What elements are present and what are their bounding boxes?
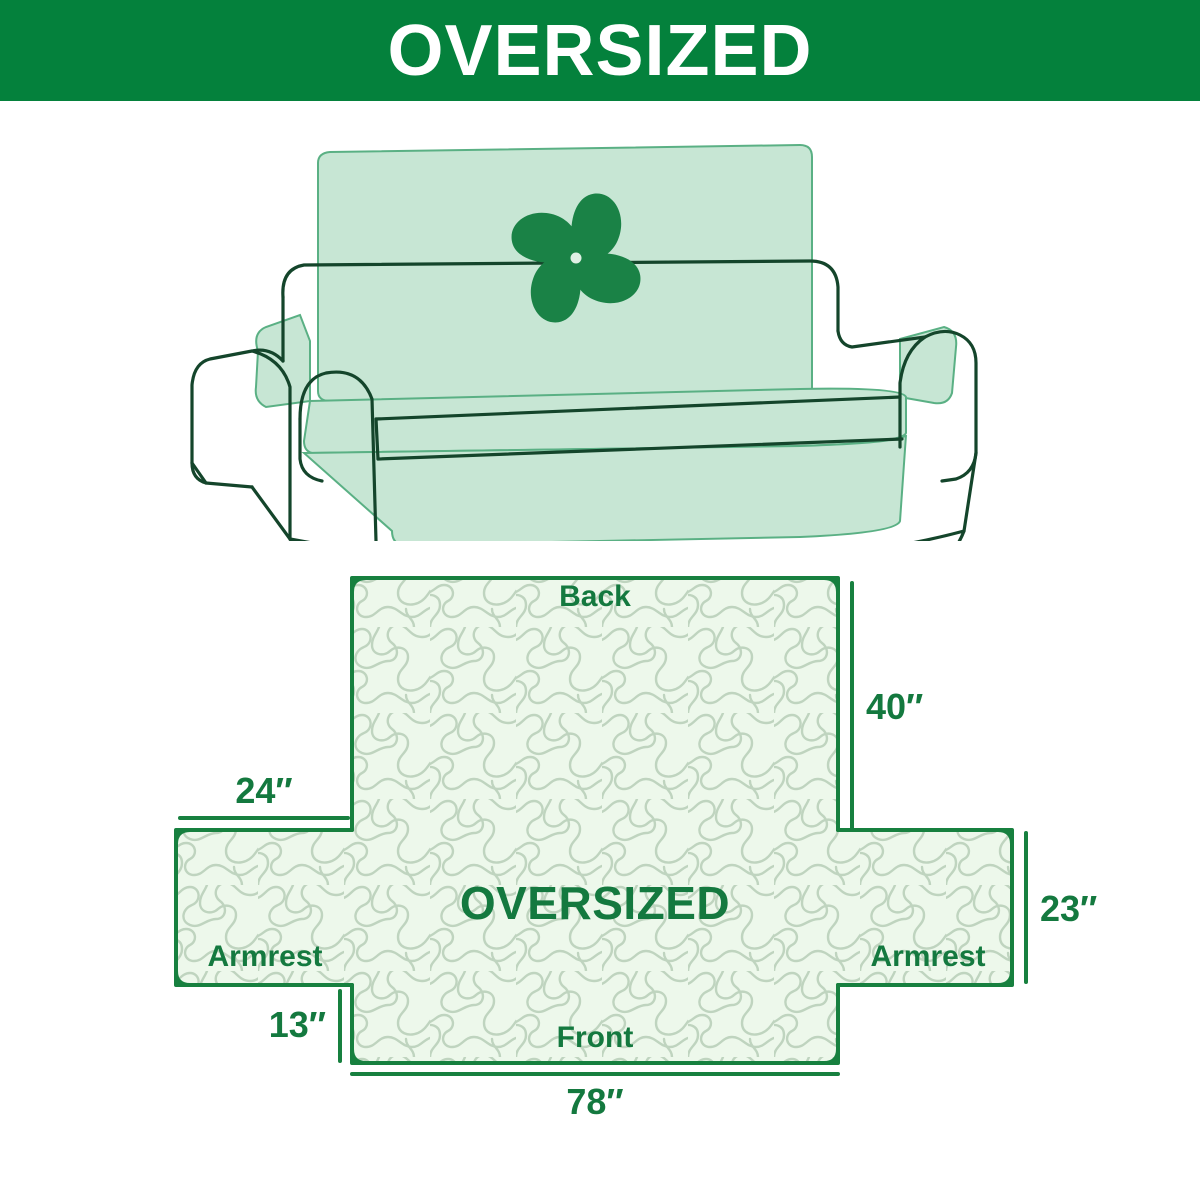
dimension-value-24: 24″ bbox=[235, 770, 292, 811]
flat-layout-svg: Back OVERSIZED Armrest Armrest Front 40″… bbox=[0, 541, 1200, 1200]
dimension-seat-width: 78″ bbox=[352, 1074, 838, 1122]
dimension-value-13: 13″ bbox=[269, 1004, 326, 1045]
dimension-value-40: 40″ bbox=[866, 686, 923, 727]
dimension-value-78: 78″ bbox=[566, 1081, 623, 1122]
flat-layout-diagram: Back OVERSIZED Armrest Armrest Front 40″… bbox=[0, 541, 1200, 1200]
dimension-front-skirt: 13″ bbox=[269, 991, 340, 1061]
pinwheel-hub bbox=[571, 253, 582, 264]
header-banner: OVERSIZED bbox=[0, 0, 1200, 101]
label-armrest-left: Armrest bbox=[207, 940, 322, 973]
label-front: Front bbox=[557, 1021, 634, 1054]
page-title: OVERSIZED bbox=[387, 15, 812, 87]
sofa-illustration bbox=[0, 101, 1200, 541]
dimension-armrest-width: 24″ bbox=[180, 770, 348, 818]
label-armrest-right: Armrest bbox=[870, 940, 985, 973]
sofa-illustration-svg bbox=[0, 101, 1200, 541]
dimension-armrest-depth: 23″ bbox=[1026, 833, 1097, 982]
label-center-oversized: OVERSIZED bbox=[460, 877, 730, 929]
dimension-value-23: 23″ bbox=[1040, 888, 1097, 929]
dimension-back-depth: 40″ bbox=[852, 583, 923, 828]
cover-cross-shape bbox=[176, 578, 1012, 1063]
label-back: Back bbox=[559, 580, 631, 613]
